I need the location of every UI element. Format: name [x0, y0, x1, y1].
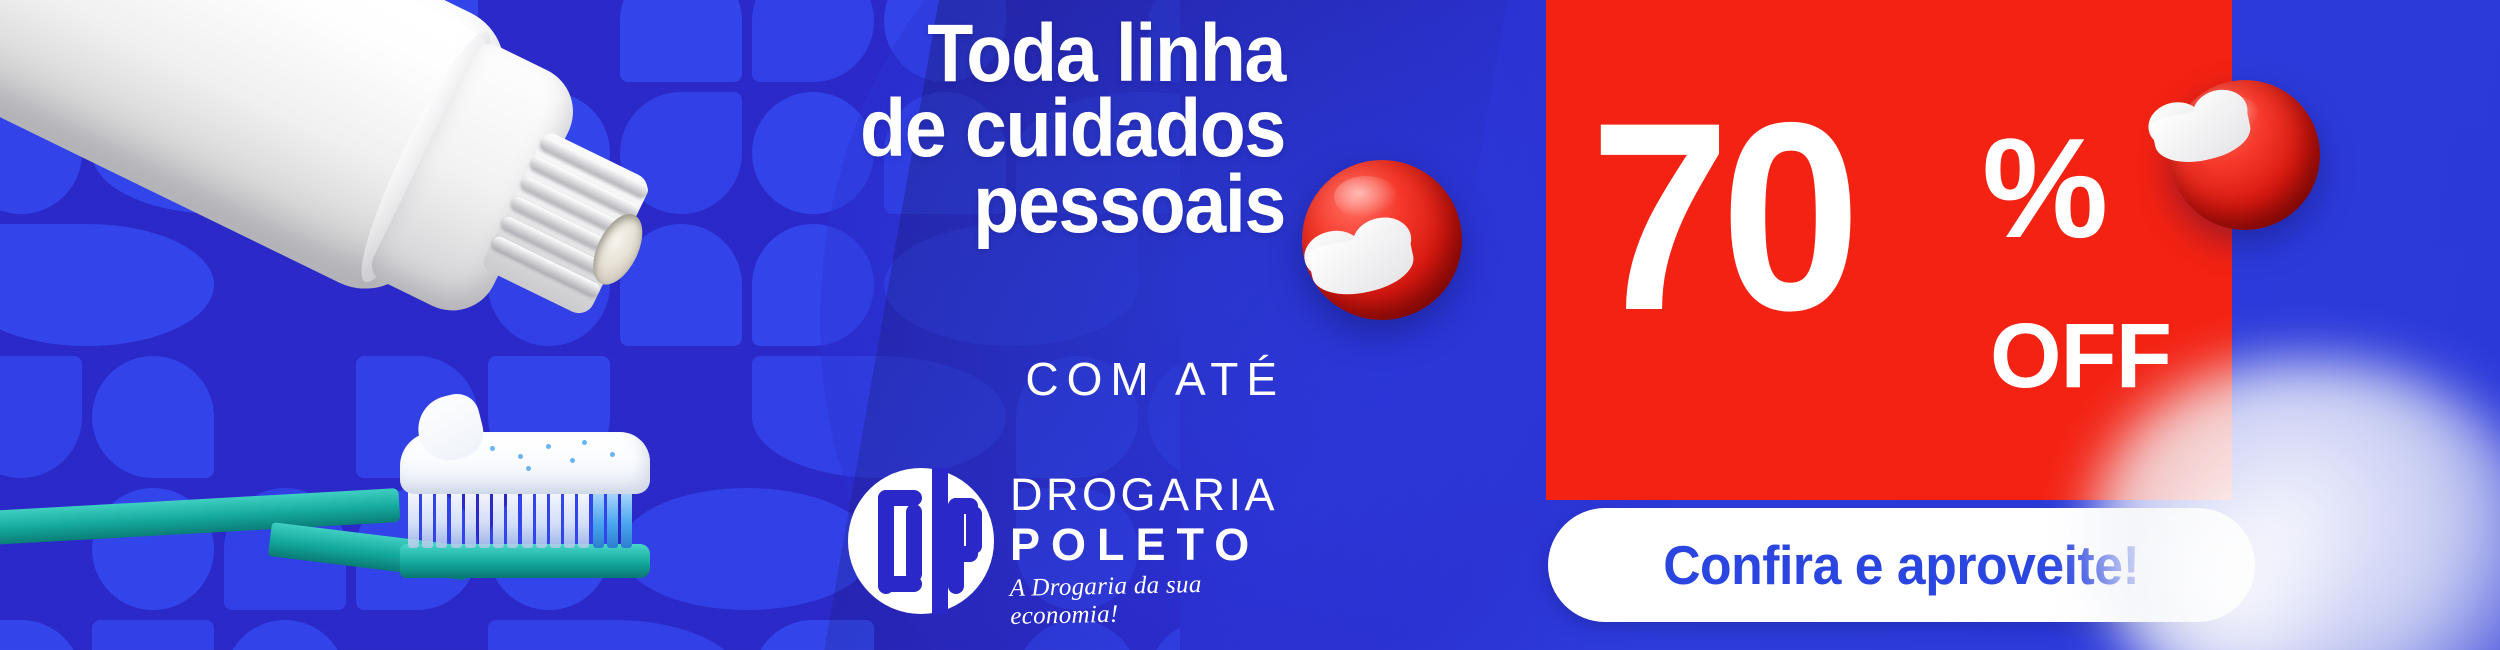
promotional-banner: Toda linha de cuidados pessoais COM ATÉ …	[0, 0, 2500, 650]
brand-logo: DROGARIA POLETO A Drogaria da sua econom…	[848, 466, 1268, 626]
brush-bristle	[578, 486, 589, 548]
brush-bristle	[593, 486, 604, 548]
logo-name-bottom: POLETO	[1010, 517, 1278, 573]
brush-bristle	[621, 486, 632, 548]
brush-bristle	[436, 486, 447, 548]
brush-bristle	[550, 486, 561, 548]
logo-tagline: A Drogaria da sua economia!	[1009, 570, 1278, 632]
brush-bristle	[507, 486, 518, 548]
brush-bristle	[465, 486, 476, 548]
logo-monogram-icon	[848, 468, 994, 614]
offer-block: 70 % OFF	[1590, 88, 2230, 458]
logo-name-top: DROGARIA	[1010, 472, 1278, 517]
toothbrush-image	[0, 470, 670, 600]
headline-block: Toda linha de cuidados pessoais	[385, 16, 1285, 242]
heart-sphere-icon	[2170, 80, 2320, 230]
discount-off-label: OFF	[1990, 310, 2171, 402]
brush-head	[400, 544, 650, 578]
brush-bristle	[408, 486, 419, 548]
cta-button-label: Confira e aproveite!	[1663, 533, 2139, 597]
headline-line-1: Toda linha	[457, 16, 1285, 91]
heart-sphere-icon	[1302, 160, 1462, 320]
headline-subtitle: COM ATÉ	[1025, 352, 1285, 406]
brush-bristle	[422, 486, 433, 548]
brush-bristles	[408, 486, 638, 548]
brush-bristle	[451, 486, 462, 548]
brush-bristle	[479, 486, 490, 548]
brush-bristle	[536, 486, 547, 548]
discount-percent-symbol: %	[1982, 118, 2108, 260]
discount-number: 70	[1590, 82, 1851, 350]
brush-bristle	[607, 486, 618, 548]
headline-line-2: de cuidados	[457, 91, 1285, 166]
brush-bristle	[493, 486, 504, 548]
brush-bristle	[564, 486, 575, 548]
headline-line-3: pessoais	[457, 167, 1285, 242]
heart-icon	[1325, 213, 1430, 305]
brush-bristle	[522, 486, 533, 548]
logo-wordmark: DROGARIA POLETO A Drogaria da sua econom…	[1010, 472, 1278, 631]
